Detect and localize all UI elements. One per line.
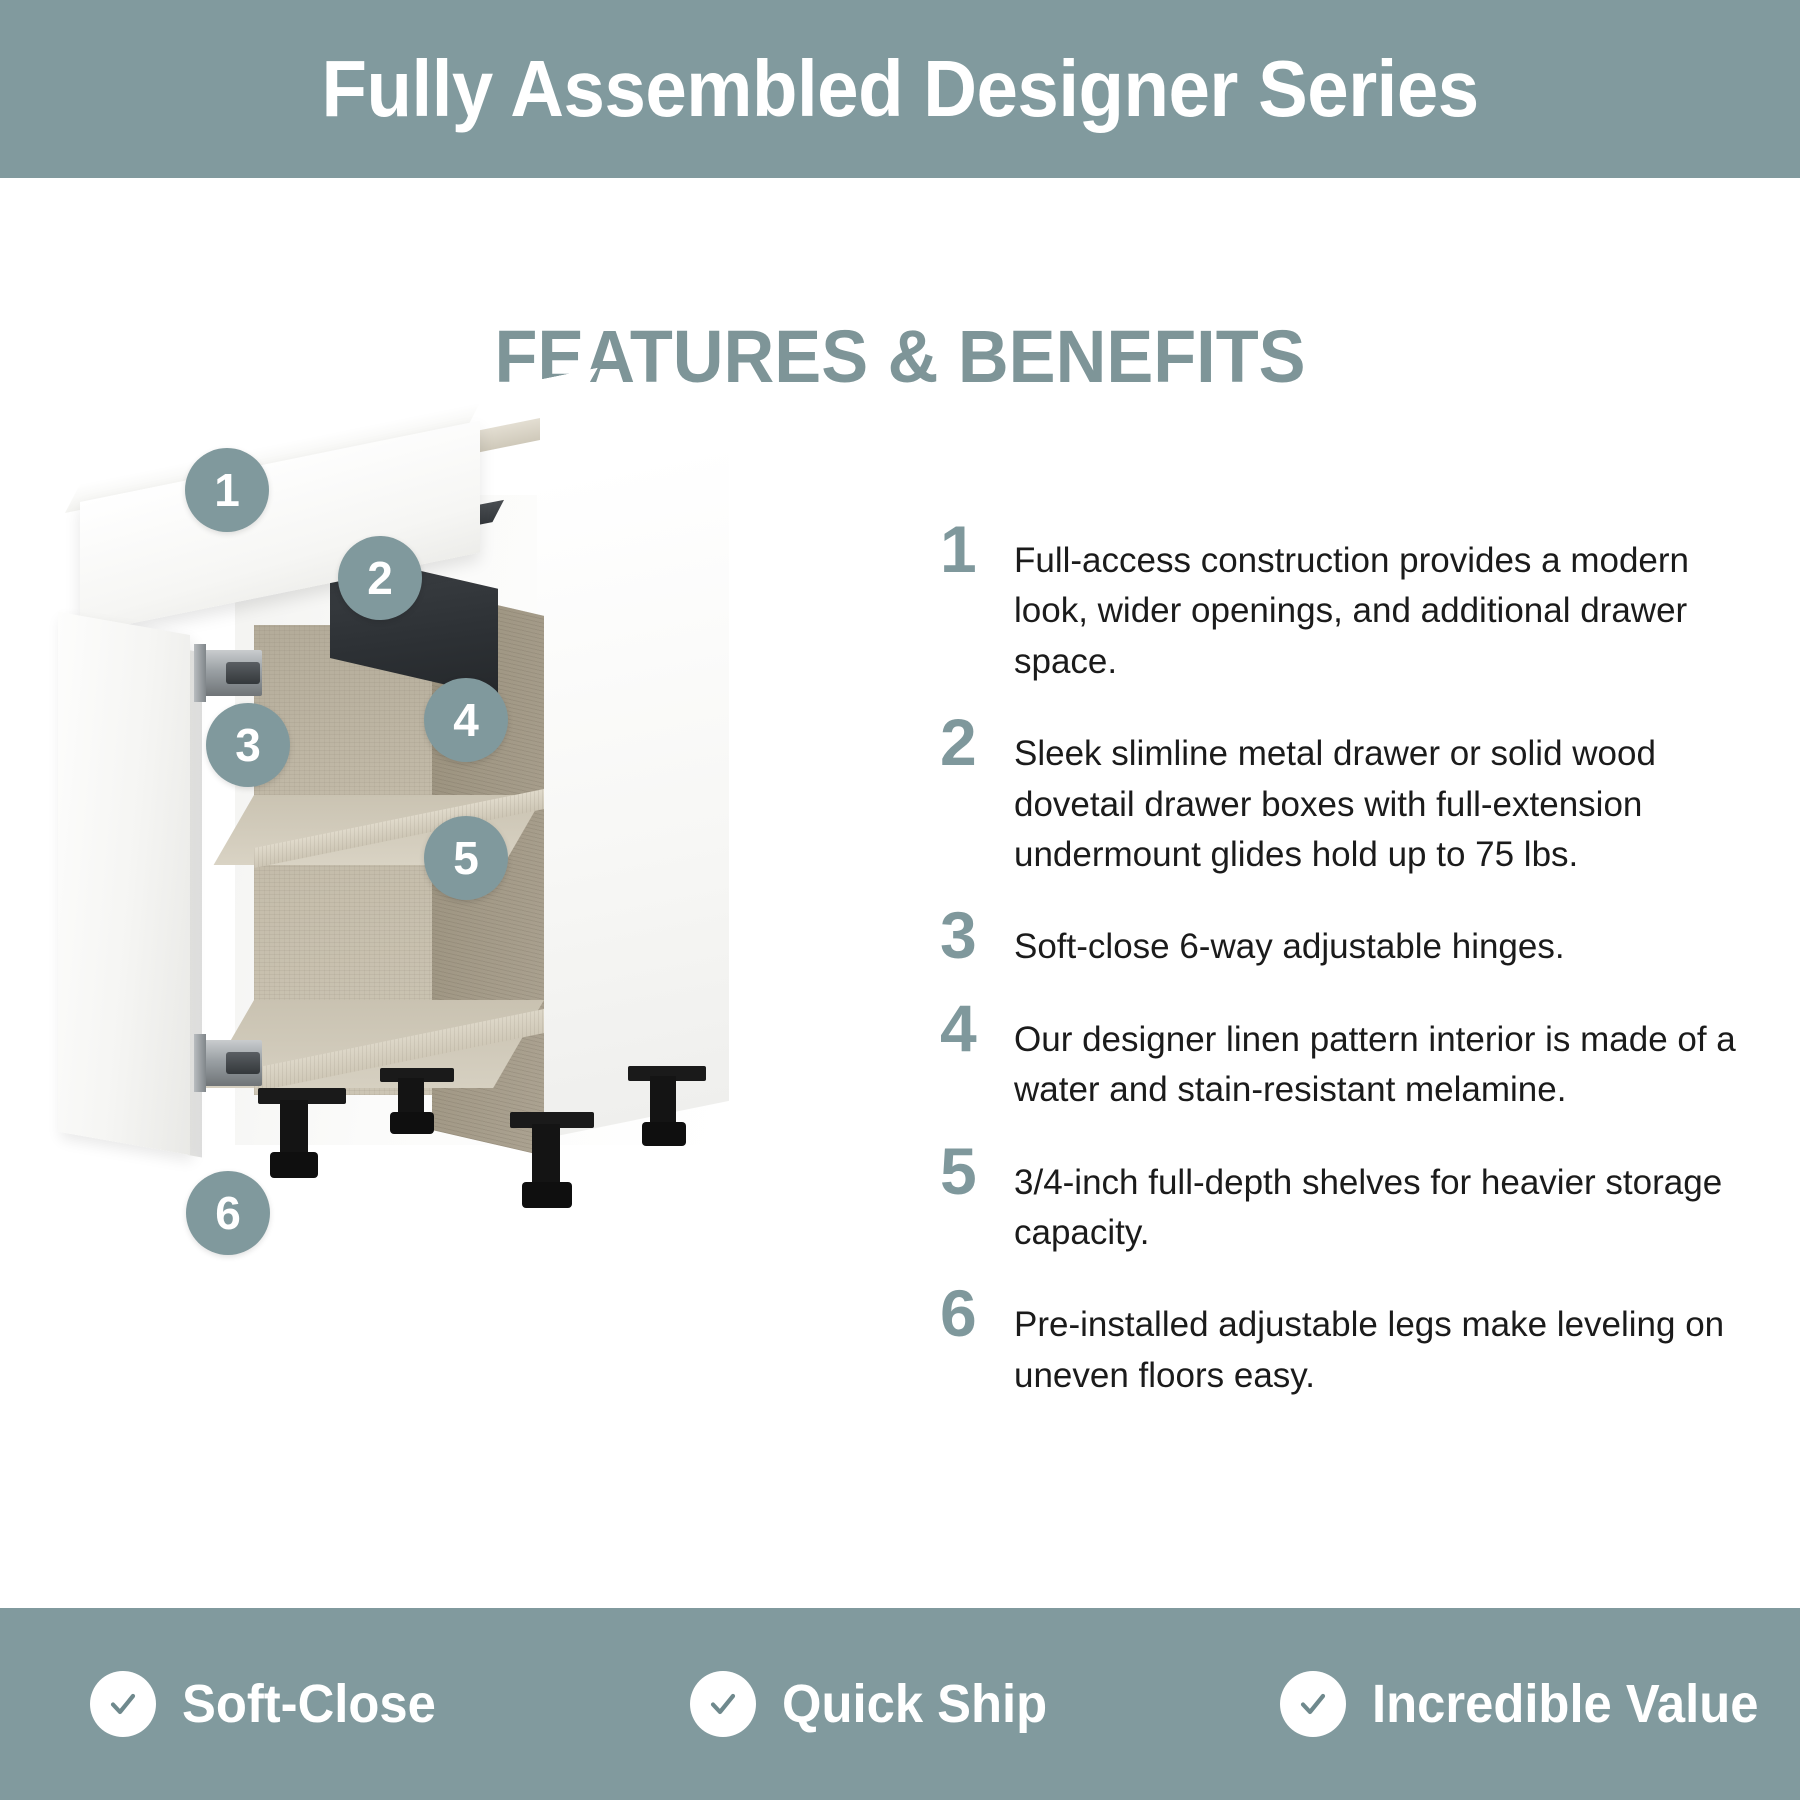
hinge-mounting-plate [194, 644, 206, 702]
callout-badge-4[interactable]: 4 [424, 678, 508, 762]
feature-number: 5 [940, 1140, 1014, 1200]
callout-badge-5[interactable]: 5 [424, 816, 508, 900]
callout-badge-2-label: 2 [367, 555, 393, 601]
feature-item: 6 Pre-installed adjustable legs make lev… [940, 1282, 1760, 1401]
footer-badge-quick-ship: Quick Ship [610, 1671, 1210, 1737]
feature-text: Our designer linen pattern interior is m… [1014, 997, 1760, 1116]
cabinet-side-panel [537, 441, 729, 1140]
callout-badge-6-label: 6 [215, 1190, 241, 1236]
features-list: 1 Full-access construction provides a mo… [940, 518, 1760, 1425]
feature-item: 2 Sleek slimline metal drawer or solid w… [940, 711, 1760, 880]
footer-badge-soft-close: Soft-Close [0, 1671, 610, 1737]
feature-item: 1 Full-access construction provides a mo… [940, 518, 1760, 687]
hinge-cup [226, 662, 260, 684]
soft-close-hinge-icon [200, 650, 262, 696]
header-banner: Fully Assembled Designer Series [0, 0, 1800, 178]
check-circle-icon [90, 1671, 156, 1737]
callout-badge-5-label: 5 [453, 835, 479, 881]
feature-item: 4 Our designer linen pattern interior is… [940, 997, 1760, 1116]
callout-badge-3[interactable]: 3 [206, 703, 290, 787]
feature-number: 6 [940, 1282, 1014, 1342]
leg-foot [642, 1122, 686, 1146]
feature-text: Soft-close 6-way adjustable hinges. [1014, 904, 1760, 972]
adjustable-leg [532, 1124, 560, 1190]
feature-text: Full-access construction provides a mode… [1014, 518, 1760, 687]
callout-badge-1-label: 1 [214, 467, 240, 513]
feature-number: 1 [940, 518, 1014, 578]
feature-number: 3 [940, 904, 1014, 964]
callout-badge-3-label: 3 [235, 722, 261, 768]
callout-badge-4-label: 4 [453, 697, 479, 743]
section-heading: FEATURES & BENEFITS [45, 320, 1755, 394]
leg-foot [390, 1112, 434, 1134]
footer-badge-incredible-value: Incredible Value [1210, 1671, 1800, 1737]
feature-text: 3/4-inch full-depth shelves for heavier … [1014, 1140, 1760, 1259]
callout-badge-2[interactable]: 2 [338, 536, 422, 620]
feature-item: 5 3/4-inch full-depth shelves for heavie… [940, 1140, 1760, 1259]
callout-badge-1[interactable]: 1 [185, 448, 269, 532]
check-circle-icon [1280, 1671, 1346, 1737]
feature-number: 2 [940, 711, 1014, 771]
hinge-mounting-plate [194, 1034, 206, 1092]
feature-item: 3 Soft-close 6-way adjustable hinges. [940, 904, 1760, 972]
footer-badge-label: Incredible Value [1372, 1677, 1759, 1731]
leg-foot [270, 1152, 318, 1178]
footer-badge-label: Quick Ship [782, 1677, 1047, 1731]
feature-text: Pre-installed adjustable legs make level… [1014, 1282, 1760, 1401]
feature-text: Sleek slimline metal drawer or solid woo… [1014, 711, 1760, 880]
footer-banner: Soft-Close Quick Ship Incredible Value [0, 1608, 1800, 1800]
cabinet-door [58, 612, 190, 1155]
page-title: Fully Assembled Designer Series [321, 49, 1478, 129]
callout-badge-6[interactable]: 6 [186, 1171, 270, 1255]
hinge-cup [226, 1052, 260, 1074]
feature-number: 4 [940, 997, 1014, 1057]
footer-badge-label: Soft-Close [182, 1677, 436, 1731]
check-circle-icon [690, 1671, 756, 1737]
leg-foot [522, 1182, 572, 1208]
soft-close-hinge-icon [200, 1040, 262, 1086]
